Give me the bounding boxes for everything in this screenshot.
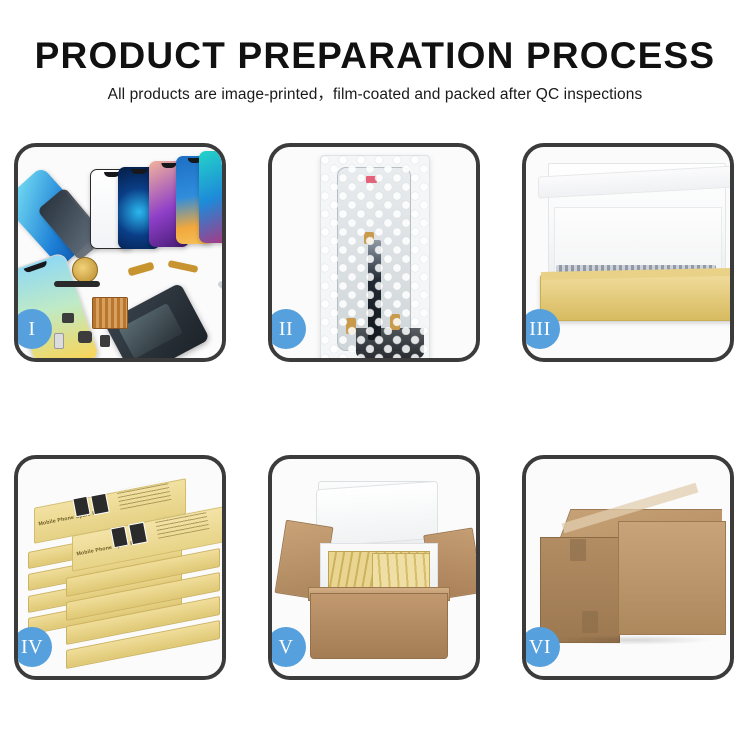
small-part (100, 335, 110, 347)
small-part (54, 333, 64, 349)
bubble-wrap-bag (320, 155, 428, 358)
process-step-panel-4: Mobile Phone Spare Parts Mobile Phone Sp… (14, 455, 226, 680)
process-step-panel-6: VI (522, 455, 734, 680)
step-badge-label: II (279, 319, 293, 339)
phone-screen-teal-wave (199, 151, 222, 243)
process-step-panel-5: V (268, 455, 480, 680)
foam-lid-open (316, 481, 438, 548)
connector-chip-grid (92, 297, 128, 329)
carton-flap-tab-bottom (582, 611, 598, 633)
step-badge-label: III (529, 319, 550, 339)
small-part (62, 313, 74, 323)
tweezers-tool-icon (217, 280, 222, 312)
notch-icon (131, 169, 147, 174)
small-part (78, 331, 92, 343)
flex-cable-part (54, 281, 100, 287)
gold-flex-part-a (127, 262, 154, 277)
process-step-grid: I (0, 0, 750, 750)
bubble-texture (320, 155, 428, 358)
carton-right-face (618, 521, 726, 635)
process-step-panel-2: II (268, 143, 480, 362)
step-badge-label: IV (21, 637, 43, 657)
process-step-panel-1: I (14, 143, 226, 362)
step-badge-label: I (28, 319, 35, 339)
gold-flex-part-b (168, 260, 199, 273)
notch-icon (24, 261, 48, 273)
speaker-coil-part (72, 257, 98, 283)
carton-front-wall (310, 593, 448, 659)
process-step-panel-3: III (522, 143, 734, 362)
carton-flap-tab-top (570, 539, 586, 561)
notch-icon (161, 163, 176, 168)
carton-shadow (554, 635, 714, 645)
product-preparation-process-page: PRODUCT PREPARATION PROCESS All products… (0, 0, 750, 750)
step-badge-label: VI (529, 637, 551, 657)
yellow-box-tray (540, 275, 730, 321)
step-badge-label: V (279, 637, 294, 657)
